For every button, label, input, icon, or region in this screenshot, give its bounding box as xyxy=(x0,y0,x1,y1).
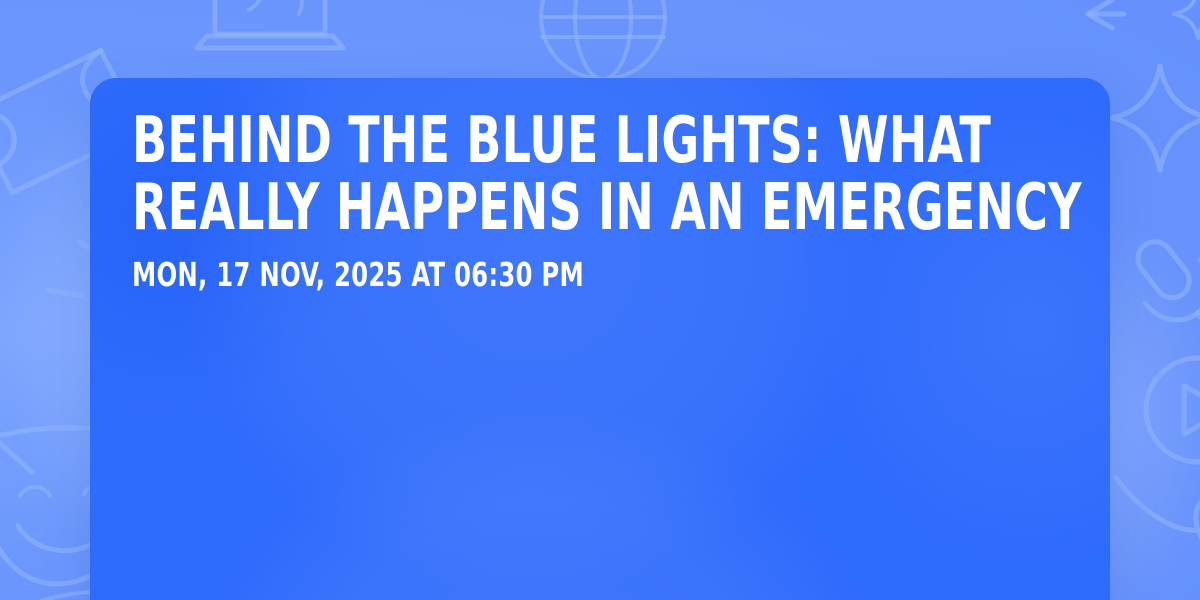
event-banner: Behind the Blue Lights: What Really Happ… xyxy=(0,0,1200,600)
event-datetime: Mon, 17 Nov, 2025 at 06:30 PM xyxy=(132,241,870,294)
event-card[interactable]: Behind the Blue Lights: What Really Happ… xyxy=(90,78,1110,600)
event-title: Behind the Blue Lights: What Really Happ… xyxy=(132,108,1108,241)
card-content: Behind the Blue Lights: What Really Happ… xyxy=(132,108,1070,294)
